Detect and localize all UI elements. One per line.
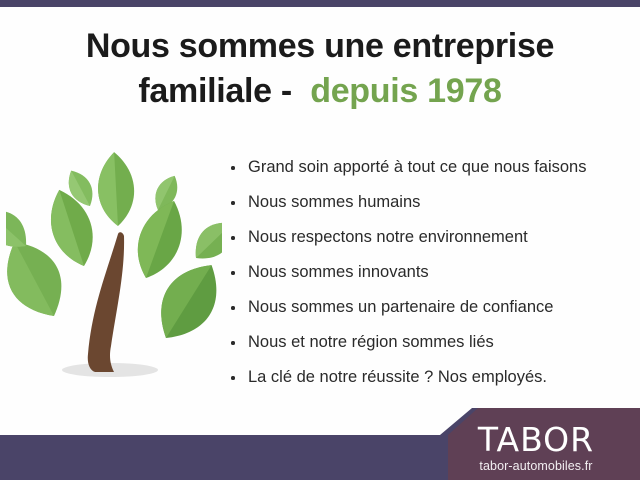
list-item-label: Nous sommes innovants (248, 263, 429, 281)
bullet-dot-icon (231, 306, 235, 310)
list-item-label: Nous et notre région sommes liés (248, 333, 494, 351)
list-item: Nous sommes humains (228, 185, 628, 220)
value-proposition-list: Grand soin apporté à tout ce que nous fa… (228, 150, 628, 395)
list-item-label: Nous sommes humains (248, 193, 420, 211)
top-accent-strip (0, 0, 640, 7)
bullet-dot-icon (231, 201, 235, 205)
headline-line-1: Nous sommes une entreprise (0, 24, 640, 69)
list-item: Nous et notre région sommes liés (228, 325, 628, 360)
page-title: Nous sommes une entreprise familiale - d… (0, 24, 640, 114)
list-item-label: La clé de notre réussite ? Nos employés. (248, 368, 547, 386)
list-item: Nous sommes un partenaire de confiance (228, 290, 628, 325)
list-item: Nous respectons notre environnement (228, 220, 628, 255)
bullet-dot-icon (231, 166, 235, 170)
slide-canvas: Nous sommes une entreprise familiale - d… (0, 0, 640, 480)
list-item-label: Nous sommes un partenaire de confiance (248, 298, 553, 316)
tree-trunk (88, 232, 124, 372)
bullet-dot-icon (231, 376, 235, 380)
leaf-right-small (186, 213, 222, 268)
bullet-dot-icon (231, 341, 235, 345)
tree-illustration (6, 148, 222, 392)
headline-line-2: familiale - depuis 1978 (0, 69, 640, 114)
footer-brand-bar: TABOR tabor-automobiles.fr (0, 398, 640, 480)
bullet-dot-icon (231, 271, 235, 275)
list-item: Grand soin apporté à tout ce que nous fa… (228, 150, 628, 185)
headline-accent-year: depuis 1978 (310, 72, 501, 110)
list-item-label: Grand soin apporté à tout ce que nous fa… (248, 158, 586, 176)
brand-website-url: tabor-automobiles.fr (446, 460, 626, 473)
list-item: La clé de notre réussite ? Nos employés. (228, 360, 628, 395)
bullet-dot-icon (231, 236, 235, 240)
brand-wordmark: TABOR (446, 423, 626, 456)
list-item: Nous sommes innovants (228, 255, 628, 290)
list-item-label: Nous respectons notre environnement (248, 228, 528, 246)
headline-line-2-prefix: familiale - (138, 72, 292, 110)
leaf-center-top (96, 151, 136, 227)
brand-logo[interactable]: TABOR tabor-automobiles.fr (446, 423, 626, 473)
